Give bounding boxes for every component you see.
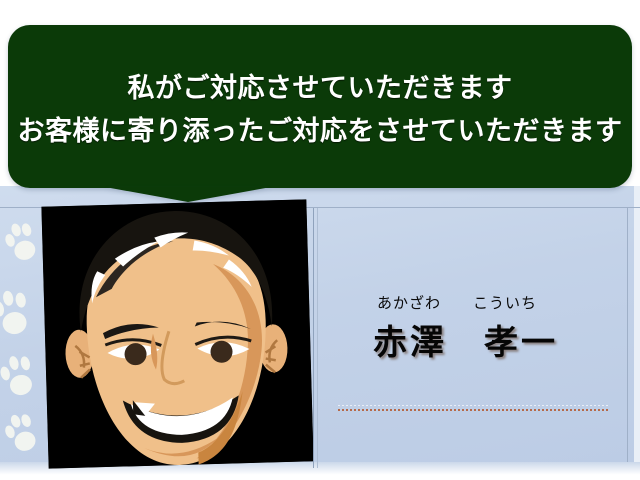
speech-bubble-tail (105, 187, 271, 202)
profile-photo (41, 199, 313, 468)
portrait-illustration (41, 199, 313, 468)
furigana-reading: あかざわ こういち (355, 292, 620, 313)
name-underline-highlight (338, 405, 610, 406)
speech-bubble-line-2: お客様に寄り添ったご対応をさせていただきます (18, 109, 623, 148)
name-block: あかざわ こういち 赤澤 孝一 (355, 292, 620, 364)
vertical-divider (313, 208, 314, 468)
name-underline (338, 409, 610, 411)
speech-bubble-line-1: 私がご対応させていただきます (128, 66, 513, 105)
person-name: 赤澤 孝一 (355, 315, 620, 364)
screenshot-root: 私がご対応させていただきます お客様に寄り添ったご対応をさせていただきます あか… (0, 0, 640, 480)
vertical-divider-secondary (317, 208, 318, 468)
speech-bubble: 私がご対応させていただきます お客様に寄り添ったご対応をさせていただきます (8, 25, 632, 188)
speech-bubble-text: 私がご対応させていただきます お客様に寄り添ったご対応をさせていただきます (8, 25, 632, 188)
panel-right-edge (634, 186, 640, 468)
panel-right-rule (627, 207, 628, 469)
